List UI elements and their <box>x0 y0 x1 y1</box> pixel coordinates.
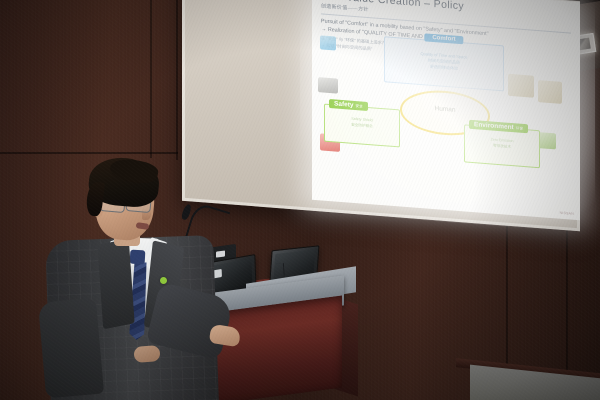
car-photo-thumbnail <box>318 77 338 94</box>
environment-pillar-tag: Environment环保 <box>469 120 528 134</box>
lapel-pin-icon <box>160 277 167 284</box>
leaf-icon-thumbnail <box>538 132 556 149</box>
speaker-left-arm <box>38 298 104 399</box>
conference-presentation-photo: New Value Creation – Policy 创造新价值——方针 Pu… <box>0 0 600 400</box>
projected-slide: New Value Creation – Policy 创造新价值——方针 Pu… <box>312 0 580 220</box>
safety-pillar-tag-cjk: 安全 <box>356 104 363 109</box>
comfort-box: Comfort Quality of Time and Space 时间与空间的… <box>384 36 504 91</box>
people-photo-thumbnail-2 <box>538 80 562 104</box>
human-center-label: Human <box>402 103 488 117</box>
comfort-box-tag: Comfort <box>424 33 463 44</box>
environment-pillar-tag-label: Environment <box>474 121 514 131</box>
safety-pillar-tag-label: Safety <box>334 100 354 109</box>
slide-diagram: Comfort Quality of Time and Space 时间与空间的… <box>312 29 580 221</box>
speaker-lapel-left <box>97 239 134 330</box>
wall-seam-vertical-left <box>150 0 152 158</box>
people-photo-thumbnail-1 <box>508 74 534 98</box>
speaker-figure <box>56 150 226 400</box>
speaker-left-hand <box>133 345 160 363</box>
environment-pillar-box: Environment环保 Zero Emission 零排放技术 <box>464 124 540 168</box>
environment-pillar-tag-cjk: 环保 <box>516 126 523 131</box>
speaker-necktie-knot <box>130 250 146 265</box>
safety-pillar-box: Safety安全 Safety Shield 安全防护概念 <box>324 104 400 148</box>
safety-pillar-tag: Safety安全 <box>329 99 368 111</box>
blue-icon-thumbnail <box>320 35 336 50</box>
wall-seam-vertical-mid <box>176 0 178 160</box>
